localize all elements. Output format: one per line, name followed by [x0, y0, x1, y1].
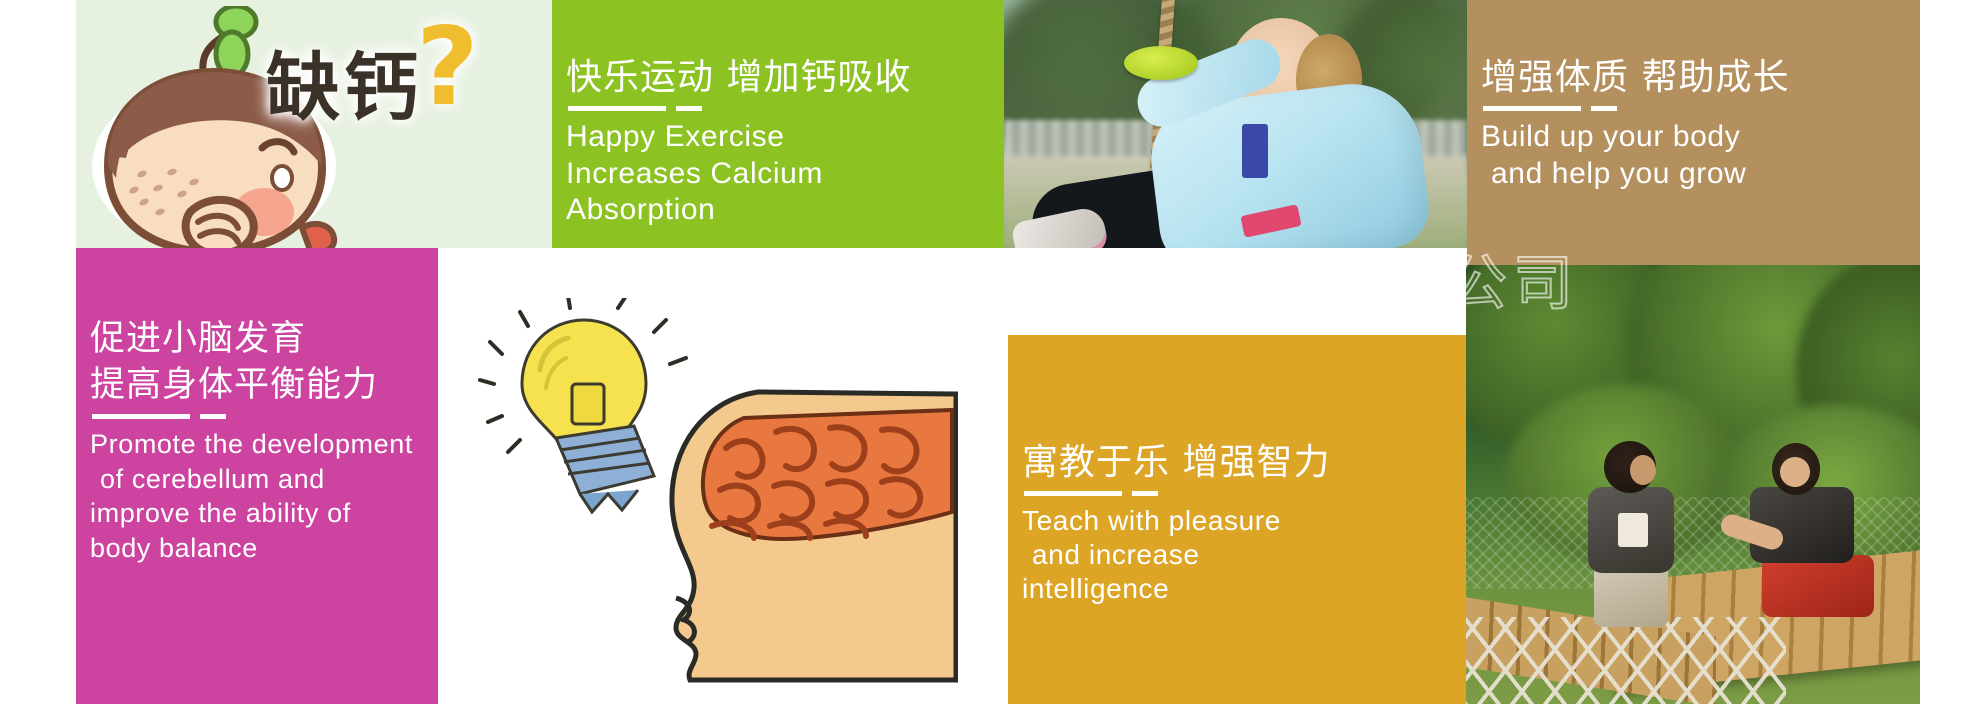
body-title-cn: 增强体质 帮助成长	[1481, 48, 1920, 100]
cerebellum-underline-rule	[92, 414, 190, 419]
intelligence-en-line-2: and increase	[1022, 538, 1466, 572]
cell-build-up-body: 增强体质 帮助成长 Build up your body and help yo…	[1467, 0, 1920, 265]
girl-on-rope-swing-photo	[1004, 0, 1467, 248]
woman-figure	[1728, 443, 1878, 633]
cerebellum-cn-line-2: 提高身体平衡能力	[90, 362, 438, 408]
exercise-en-line-2: Increases Calcium	[566, 156, 1004, 193]
intelligence-title-cn: 寓教于乐 增强智力	[1022, 433, 1466, 485]
cell-intelligence: 寓教于乐 增强智力 Teach with pleasure and increa…	[1008, 335, 1466, 704]
boy-figure	[1578, 441, 1674, 621]
question-mark-icon: ?	[416, 14, 479, 122]
cerebellum-cn-line-1: 促进小脑发育	[90, 316, 438, 362]
intelligence-title-en: Teach with pleasure and increase intelli…	[1022, 504, 1466, 606]
body-en-line-1: Build up your body	[1481, 119, 1920, 156]
promo-banner: 缺钙 ? 快乐运动 增加钙吸收 Happy Exercise Increases…	[0, 0, 1980, 704]
cell-swing-photo	[1004, 0, 1467, 248]
cell-rope-bridge-photo	[1466, 265, 1920, 704]
cerebellum-en-line-4: body balance	[90, 531, 438, 566]
exercise-title-en: Happy Exercise Increases Calcium Absorpt…	[566, 119, 1004, 229]
intelligence-en-line-3: intelligence	[1022, 572, 1466, 606]
cerebellum-en-line-3: improve the ability of	[90, 496, 438, 531]
body-en-line-2: and help you grow	[1481, 156, 1920, 193]
intelligence-en-line-1: Teach with pleasure	[1022, 504, 1466, 538]
body-underline-rule	[1483, 106, 1581, 111]
exercise-underline-rule	[568, 106, 666, 111]
cell-cartoon-baby: 缺钙 ?	[76, 0, 552, 248]
intelligence-underline-rule	[1024, 491, 1122, 496]
exercise-title-cn: 快乐运动 增加钙吸收	[566, 48, 1004, 100]
cerebellum-title-cn: 促进小脑发育 提高身体平衡能力	[90, 316, 438, 408]
cell-cerebellum: 促进小脑发育 提高身体平衡能力 Promote the development …	[76, 248, 438, 704]
baby-caption-cn: 缺钙	[266, 28, 422, 135]
cerebellum-en-line-2: of cerebellum and	[90, 462, 438, 497]
exercise-en-line-1: Happy Exercise	[566, 119, 1004, 156]
cerebellum-en-line-1: Promote the development	[90, 427, 438, 462]
intelligence-text-block: 寓教于乐 增强智力 Teach with pleasure and increa…	[1008, 335, 1466, 704]
cerebellum-title-en: Promote the development of cerebellum an…	[90, 427, 438, 565]
exercise-en-line-3: Absorption	[566, 192, 1004, 229]
cell-brain-illustration	[438, 248, 1008, 704]
brain-lightbulb-icon	[458, 298, 958, 698]
body-text-block: 增强体质 帮助成长 Build up your body and help yo…	[1467, 0, 1920, 265]
baby-illustration-wrap: 缺钙 ?	[76, 0, 552, 248]
children-on-rope-bridge-photo	[1466, 265, 1920, 704]
cerebellum-text-block: 促进小脑发育 提高身体平衡能力 Promote the development …	[76, 248, 438, 704]
body-title-en: Build up your body and help you grow	[1481, 119, 1920, 192]
